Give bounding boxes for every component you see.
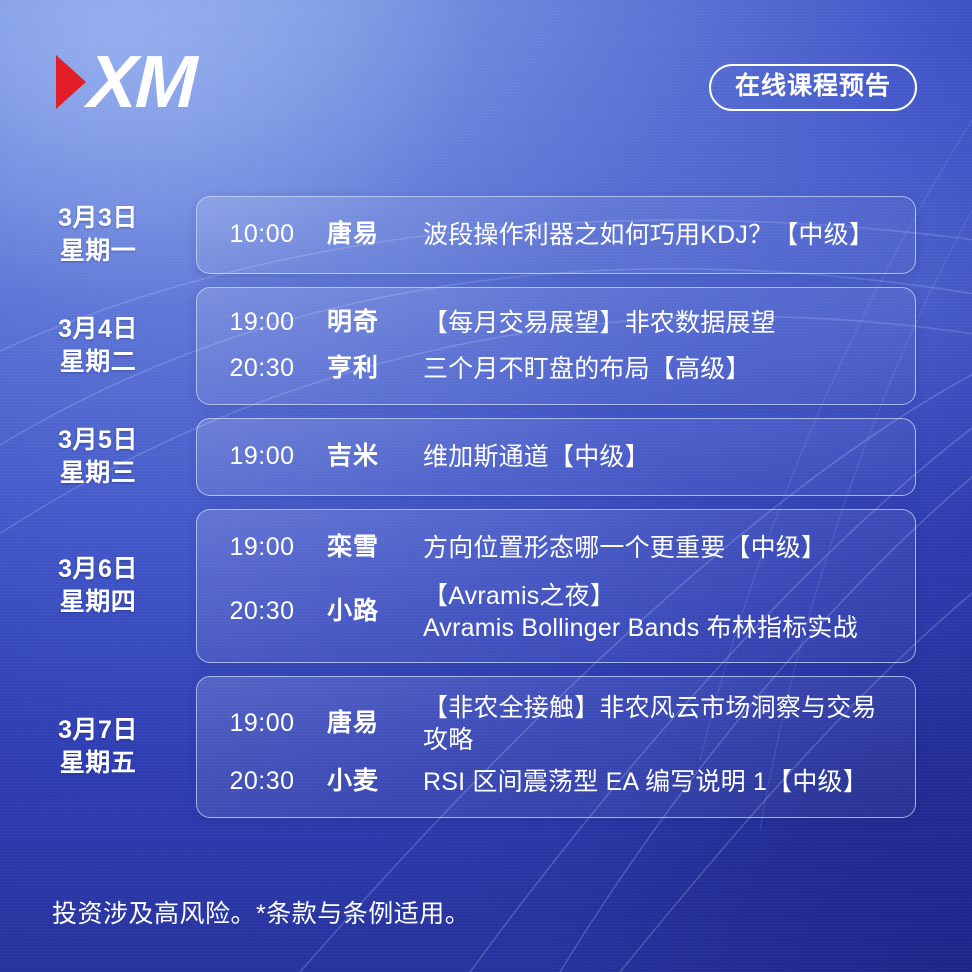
- session-host: 小麦: [327, 766, 423, 797]
- date-label: 3月5日 星期三: [0, 424, 196, 490]
- poster-header: XM 在线课程预告: [0, 0, 972, 165]
- session-row[interactable]: 19:00 吉米 维加斯通道【中级】: [197, 434, 915, 480]
- session-title: 三个月不盯盘的布局【高级】: [423, 353, 915, 385]
- session-host: 小路: [327, 596, 423, 627]
- weekday-text: 星期二: [0, 346, 196, 379]
- session-title: 波段操作利器之如何巧用KDJ？【中级】: [423, 219, 915, 251]
- session-time: 20:30: [197, 766, 327, 797]
- session-card[interactable]: 19:00 栾雪 方向位置形态哪一个更重要【中级】 20:30 小路 【Avra…: [196, 509, 916, 663]
- session-card[interactable]: 10:00 唐易 波段操作利器之如何巧用KDJ？【中级】: [196, 196, 916, 274]
- session-title: 方向位置形态哪一个更重要【中级】: [423, 532, 915, 564]
- session-host: 唐易: [327, 219, 423, 250]
- date-label: 3月6日 星期四: [0, 553, 196, 619]
- session-title: RSI 区间震荡型 EA 编写说明 1【中级】: [423, 766, 915, 798]
- date-text: 3月7日: [58, 716, 138, 744]
- schedule-list: 3月3日 星期一 10:00 唐易 波段操作利器之如何巧用KDJ？【中级】 3月…: [0, 196, 972, 831]
- weekday-text: 星期四: [0, 586, 196, 619]
- session-row[interactable]: 19:00 明奇 【每月交易展望】非农数据展望: [197, 300, 915, 346]
- session-time: 19:00: [197, 441, 327, 472]
- weekday-text: 星期三: [0, 457, 196, 490]
- session-host: 明奇: [327, 307, 423, 338]
- date-text: 3月6日: [58, 555, 138, 583]
- session-time: 10:00: [197, 219, 327, 250]
- logo-wordmark: XM: [87, 45, 197, 119]
- session-title: 【Avramis之夜】 Avramis Bollinger Bands 布林指标…: [423, 580, 915, 644]
- date-label: 3月3日 星期一: [0, 202, 196, 268]
- xm-logo: XM: [56, 44, 195, 120]
- schedule-day-row: 3月6日 星期四 19:00 栾雪 方向位置形态哪一个更重要【中级】 20:30…: [0, 509, 972, 663]
- weekday-text: 星期五: [0, 747, 196, 780]
- session-title: 维加斯通道【中级】: [423, 441, 915, 473]
- session-title-line1: 【Avramis之夜】: [423, 582, 615, 610]
- date-label: 3月7日 星期五: [0, 714, 196, 780]
- session-time: 20:30: [197, 596, 327, 627]
- session-row[interactable]: 19:00 栾雪 方向位置形态哪一个更重要【中级】: [197, 522, 915, 574]
- session-row[interactable]: 20:30 小路 【Avramis之夜】 Avramis Bollinger B…: [197, 574, 915, 650]
- session-card[interactable]: 19:00 吉米 维加斯通道【中级】: [196, 418, 916, 496]
- course-preview-badge: 在线课程预告: [709, 64, 917, 111]
- session-host: 吉米: [327, 441, 423, 472]
- schedule-day-row: 3月3日 星期一 10:00 唐易 波段操作利器之如何巧用KDJ？【中级】: [0, 196, 972, 274]
- session-row[interactable]: 19:00 唐易 【非农全接触】非农风云市场洞察与交易攻略: [197, 689, 915, 759]
- session-time: 20:30: [197, 353, 327, 384]
- session-row[interactable]: 10:00 唐易 波段操作利器之如何巧用KDJ？【中级】: [197, 212, 915, 258]
- session-host: 栾雪: [327, 532, 423, 563]
- session-title-line2: Avramis Bollinger Bands 布林指标实战: [423, 612, 901, 644]
- poster-root: XM 在线课程预告 3月3日 星期一 10:00 唐易 波段操作利器之如何巧用K…: [0, 0, 972, 972]
- disclaimer-text: 投资涉及高风险。*条款与条例适用。: [52, 898, 470, 931]
- weekday-text: 星期一: [0, 235, 196, 268]
- session-row[interactable]: 20:30 小麦 RSI 区间震荡型 EA 编写说明 1【中级】: [197, 759, 915, 805]
- session-time: 19:00: [197, 708, 327, 739]
- session-card[interactable]: 19:00 明奇 【每月交易展望】非农数据展望 20:30 亨利 三个月不盯盘的…: [196, 287, 916, 405]
- schedule-day-row: 3月4日 星期二 19:00 明奇 【每月交易展望】非农数据展望 20:30 亨…: [0, 287, 972, 405]
- session-card[interactable]: 19:00 唐易 【非农全接触】非农风云市场洞察与交易攻略 20:30 小麦 R…: [196, 676, 916, 818]
- session-title: 【非农全接触】非农风云市场洞察与交易攻略: [423, 692, 915, 756]
- date-label: 3月4日 星期二: [0, 313, 196, 379]
- logo-arrow-icon: [56, 55, 86, 109]
- date-text: 3月5日: [58, 426, 138, 454]
- session-row[interactable]: 20:30 亨利 三个月不盯盘的布局【高级】: [197, 346, 915, 392]
- session-time: 19:00: [197, 532, 327, 563]
- schedule-day-row: 3月7日 星期五 19:00 唐易 【非农全接触】非农风云市场洞察与交易攻略 2…: [0, 676, 972, 818]
- session-time: 19:00: [197, 307, 327, 338]
- date-text: 3月3日: [58, 204, 138, 232]
- session-host: 亨利: [327, 353, 423, 384]
- session-host: 唐易: [327, 708, 423, 739]
- date-text: 3月4日: [58, 315, 138, 343]
- session-title: 【每月交易展望】非农数据展望: [423, 307, 915, 339]
- schedule-day-row: 3月5日 星期三 19:00 吉米 维加斯通道【中级】: [0, 418, 972, 496]
